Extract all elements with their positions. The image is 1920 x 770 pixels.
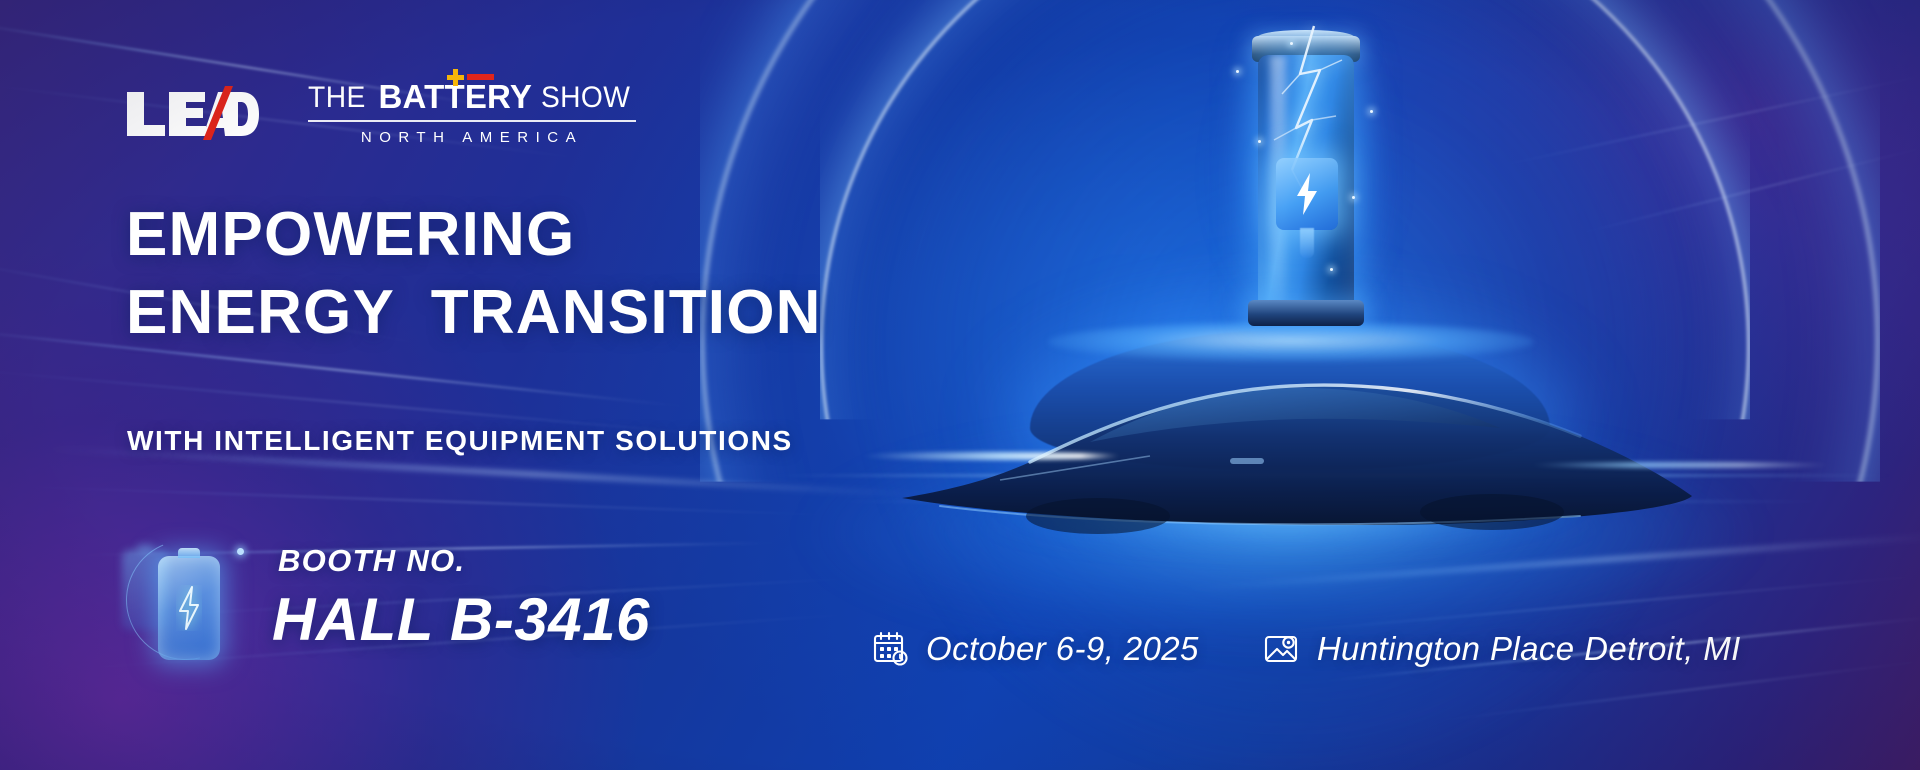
booth-block: BOOTH NO. HALL B-3416 [120, 528, 650, 668]
headline-line-2: ENERGY TRANSITION [126, 274, 822, 352]
calendar-clock-icon [872, 630, 910, 668]
map-pin-icon [1263, 630, 1301, 668]
icon-ring-dot [237, 548, 244, 555]
logo-group: THE BATTERY SHOW NORTH AMERICA [125, 78, 636, 146]
event-date-item: October 6-9, 2025 [872, 630, 1199, 668]
headline-line-1: EMPOWERING [126, 196, 822, 274]
headline-block: EMPOWERING ENERGY TRANSITION [126, 196, 822, 352]
event-venue-item: Huntington Place Detroit, MI [1263, 630, 1741, 668]
event-date-text: October 6-9, 2025 [926, 630, 1199, 668]
battery-show-logo: THE BATTERY SHOW NORTH AMERICA [308, 78, 636, 146]
logo-subtitle: NORTH AMERICA [308, 129, 636, 146]
battery-plus-icon [447, 69, 464, 86]
promo-banner: THE BATTERY SHOW NORTH AMERICA EMPOWERIN… [0, 0, 1920, 770]
logo-word-the: THE [308, 83, 366, 113]
booth-label: BOOTH NO. [278, 543, 650, 579]
lead-logo [125, 84, 260, 140]
logo-word-show: SHOW [541, 83, 630, 113]
battery-minus-icon [467, 74, 494, 80]
battery-bolt-icon [120, 528, 260, 668]
lead-logo-icon [125, 84, 260, 140]
event-meta: October 6-9, 2025 Huntington Place Detro… [872, 630, 1741, 668]
logo-word-battery: BATTERY [379, 80, 533, 113]
event-venue-text: Huntington Place Detroit, MI [1317, 630, 1741, 668]
booth-number: HALL B-3416 [272, 585, 650, 654]
bolt-glyph-icon [176, 585, 202, 631]
subheadline: WITH INTELLIGENT EQUIPMENT SOLUTIONS [127, 425, 793, 457]
logo-rule [308, 120, 636, 122]
battery-main-shape [158, 556, 220, 660]
